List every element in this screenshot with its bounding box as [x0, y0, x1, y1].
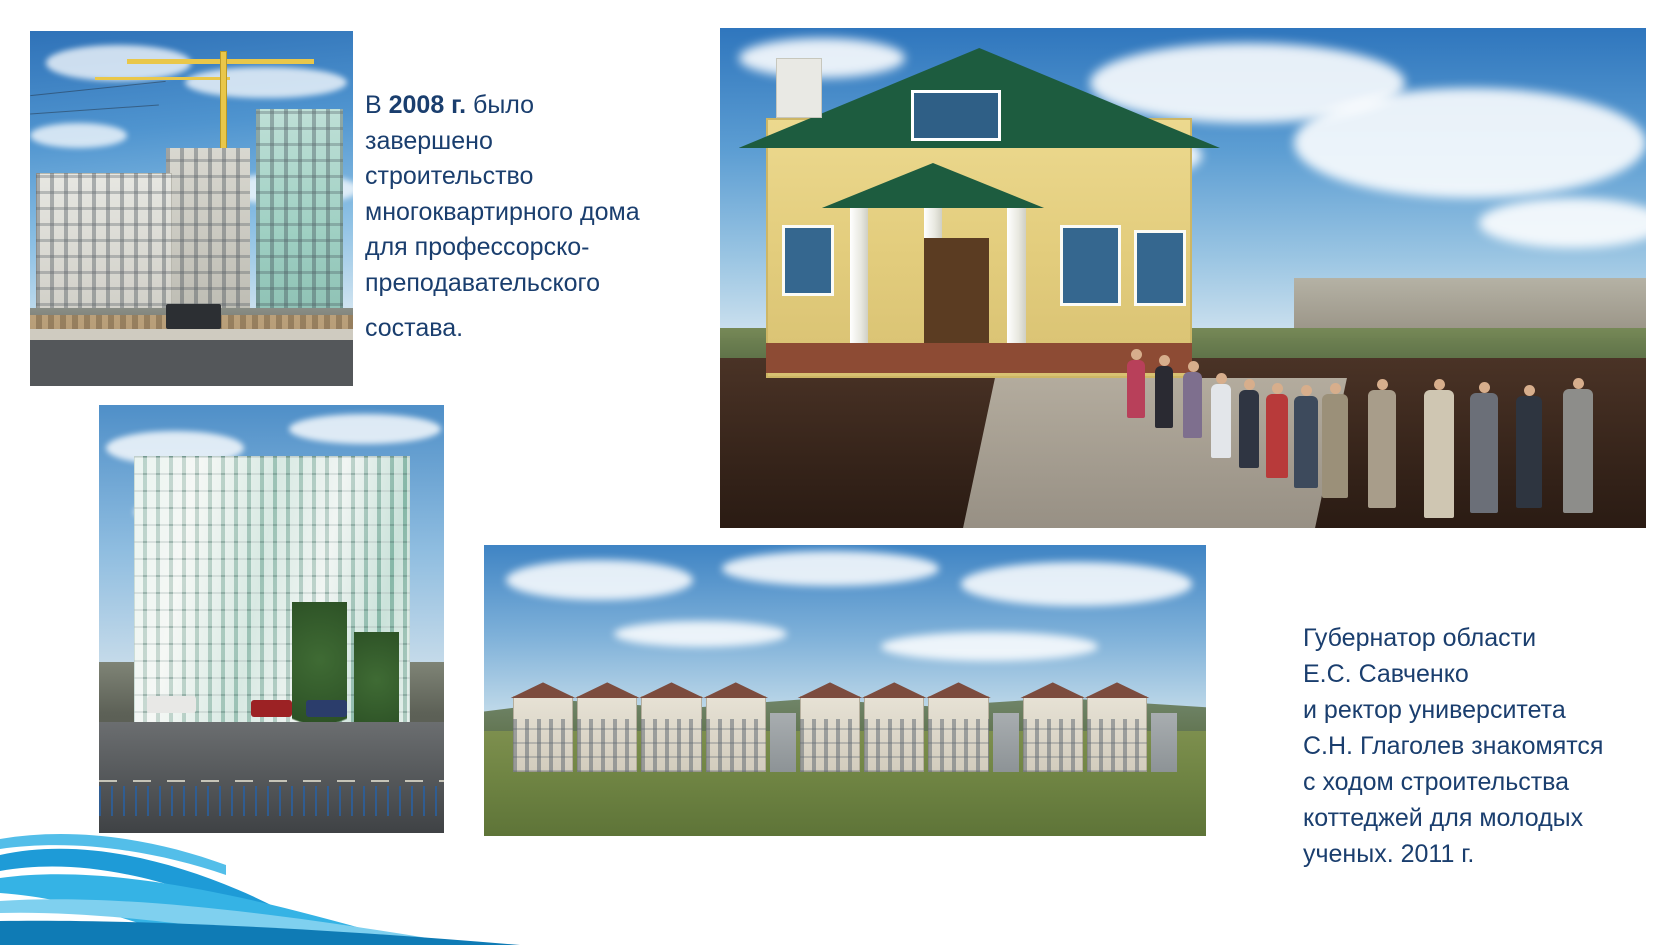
utility-block: [993, 713, 1019, 772]
person: [1470, 393, 1498, 513]
text-left-body-tail: состава.: [365, 314, 463, 342]
utility-block: [770, 713, 796, 772]
truck: [166, 304, 221, 329]
text-right-line-1: Губернатор области: [1303, 620, 1633, 656]
cottage: [706, 696, 766, 772]
crane-counter-jib: [95, 77, 231, 80]
person: [1127, 360, 1145, 418]
utility-block: [1151, 713, 1177, 772]
cloud: [1294, 88, 1646, 198]
cottage-delegation-photo-content: [720, 28, 1646, 528]
building-under-construction-middle: [166, 148, 250, 322]
swoosh-svg: [0, 715, 560, 945]
text-right-line-3: и ректор университета: [1303, 692, 1633, 728]
person: [1424, 390, 1454, 518]
text-block-right: Губернатор области Е.С. Савченко и ректо…: [1303, 620, 1633, 872]
road: [30, 340, 353, 386]
cottage-delegation-photo: [720, 28, 1646, 528]
person: [1368, 390, 1396, 508]
window: [1137, 233, 1183, 303]
text-right-line-5: с ходом строительства: [1303, 764, 1633, 800]
person: [1563, 389, 1593, 513]
cloud: [614, 621, 787, 647]
parked-car: [147, 696, 195, 713]
person: [1183, 372, 1202, 438]
person: [1155, 366, 1173, 428]
distant-settlement: [1294, 278, 1646, 328]
entrance-door: [924, 238, 989, 348]
cloud: [185, 67, 347, 99]
attic-window: [914, 93, 997, 138]
construction-site-photo-content: [30, 31, 353, 386]
person: [1239, 390, 1259, 468]
person: [1516, 396, 1542, 508]
person: [1294, 396, 1318, 488]
cottage: [800, 696, 860, 772]
construction-site-photo: [30, 31, 353, 386]
kerb: [30, 329, 353, 340]
text-right-line-2: Е.С. Савченко: [1303, 656, 1633, 692]
porch-column: [1007, 208, 1026, 348]
chimney: [776, 58, 822, 118]
cottages-row-photo-content: [484, 545, 1206, 836]
text-block-left: В 2008 г. было завершено строительство м…: [365, 88, 665, 347]
text-left-prefix: В: [365, 91, 389, 119]
text-right-line-6: коттеджей для молодых: [1303, 800, 1633, 836]
cottage: [1087, 696, 1147, 772]
decorative-swoosh-group: [0, 715, 560, 945]
cloud: [961, 562, 1192, 606]
cloud: [722, 551, 939, 586]
cloud: [289, 414, 441, 444]
cloud: [30, 123, 127, 148]
slide-canvas: В 2008 г. было завершено строительство м…: [0, 0, 1680, 945]
person: [1266, 394, 1288, 478]
text-left-body: было завершено строительство многокварти…: [365, 91, 640, 297]
person: [1322, 394, 1348, 498]
window: [785, 228, 831, 293]
text-right-line-4: С.Н. Глаголев знакомятся: [1303, 728, 1633, 764]
cottage: [1023, 696, 1083, 772]
cottage-row: [513, 696, 1177, 772]
cloud: [506, 560, 694, 601]
text-right-line-7: ученых. 2011 г.: [1303, 836, 1633, 872]
cloud: [739, 38, 906, 78]
cottage: [864, 696, 924, 772]
text-left-year: 2008 г.: [389, 91, 466, 119]
cottage: [928, 696, 988, 772]
porch-column: [850, 208, 869, 348]
person: [1211, 384, 1231, 458]
building-under-construction-right: [256, 109, 343, 322]
window: [1063, 228, 1119, 303]
building-under-construction-left: [36, 173, 172, 322]
cottages-row-photo: [484, 545, 1206, 836]
cottage: [577, 696, 637, 772]
cottage: [641, 696, 701, 772]
